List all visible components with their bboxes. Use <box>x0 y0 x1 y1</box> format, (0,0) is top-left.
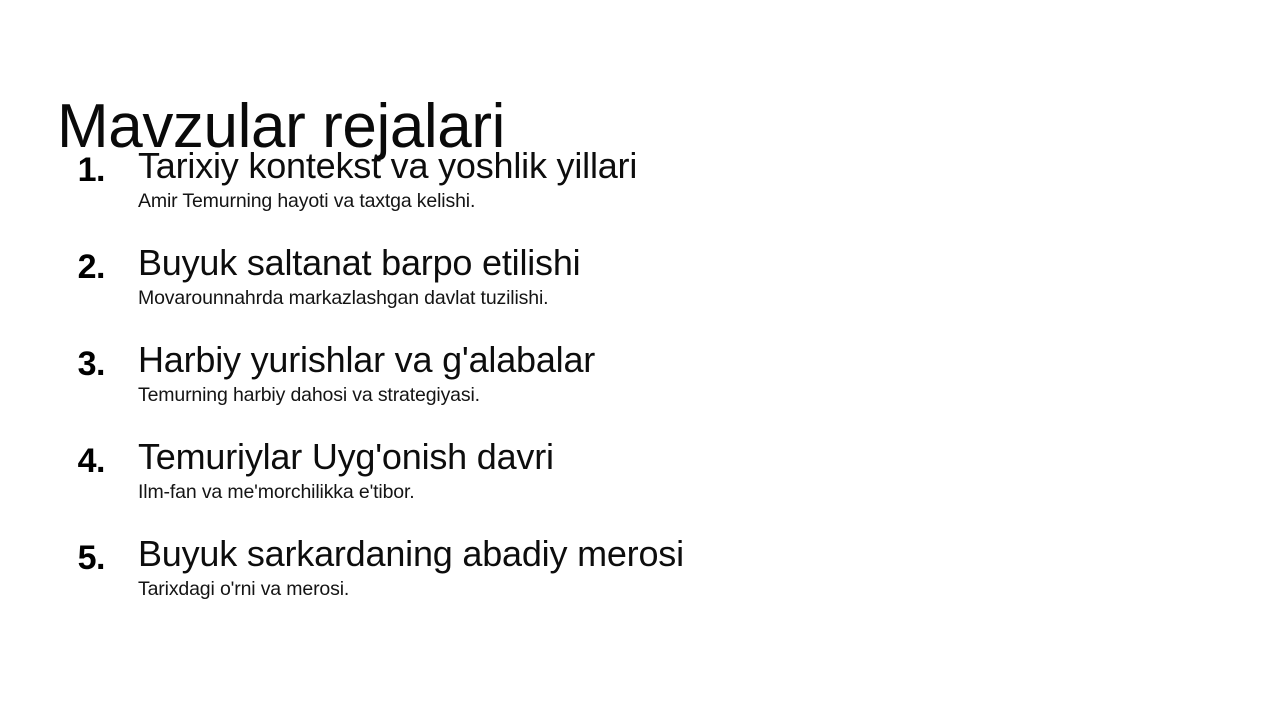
list-item-body: Buyuk sarkardaning abadiy merosi Tarixda… <box>105 534 1280 602</box>
list-item-heading: Tarixiy kontekst va yoshlik yillari <box>138 146 1280 186</box>
list-item: 1. Tarixiy kontekst va yoshlik yillari A… <box>0 146 1280 243</box>
list-item-heading: Buyuk sarkardaning abadiy merosi <box>138 534 1280 574</box>
list-item-heading: Buyuk saltanat barpo etilishi <box>138 243 1280 283</box>
list-item-body: Buyuk saltanat barpo etilishi Movarounna… <box>105 243 1280 311</box>
list-item-subtitle: Ilm-fan va me'morchilikka e'tibor. <box>138 481 1280 504</box>
list-item: 5. Buyuk sarkardaning abadiy merosi Tari… <box>0 534 1280 631</box>
list-item-body: Temuriylar Uyg'onish davri Ilm-fan va me… <box>105 437 1280 505</box>
list-item-number: 2. <box>0 243 105 284</box>
list-item-number: 4. <box>0 437 105 478</box>
list-item-subtitle: Amir Temurning hayoti va taxtga kelishi. <box>138 190 1280 213</box>
list-item: 3. Harbiy yurishlar va g'alabalar Temurn… <box>0 340 1280 437</box>
list-item-heading: Temuriylar Uyg'onish davri <box>138 437 1280 477</box>
list-item-body: Tarixiy kontekst va yoshlik yillari Amir… <box>105 146 1280 214</box>
list-item-number: 1. <box>0 146 105 187</box>
list-item-subtitle: Movarounnahrda markazlashgan davlat tuzi… <box>138 287 1280 310</box>
list-item: 2. Buyuk saltanat barpo etilishi Movarou… <box>0 243 1280 340</box>
list-item-subtitle: Temurning harbiy dahosi va strategiyasi. <box>138 384 1280 407</box>
list-item-subtitle: Tarixdagi o'rni va merosi. <box>138 578 1280 601</box>
agenda-list: 1. Tarixiy kontekst va yoshlik yillari A… <box>0 146 1280 631</box>
list-item-number: 5. <box>0 534 105 575</box>
list-item-heading: Harbiy yurishlar va g'alabalar <box>138 340 1280 380</box>
list-item-number: 3. <box>0 340 105 381</box>
list-item-body: Harbiy yurishlar va g'alabalar Temurning… <box>105 340 1280 408</box>
slide-canvas: Mavzular rejalari 1. Tarixiy kontekst va… <box>0 0 1280 720</box>
list-item: 4. Temuriylar Uyg'onish davri Ilm-fan va… <box>0 437 1280 534</box>
